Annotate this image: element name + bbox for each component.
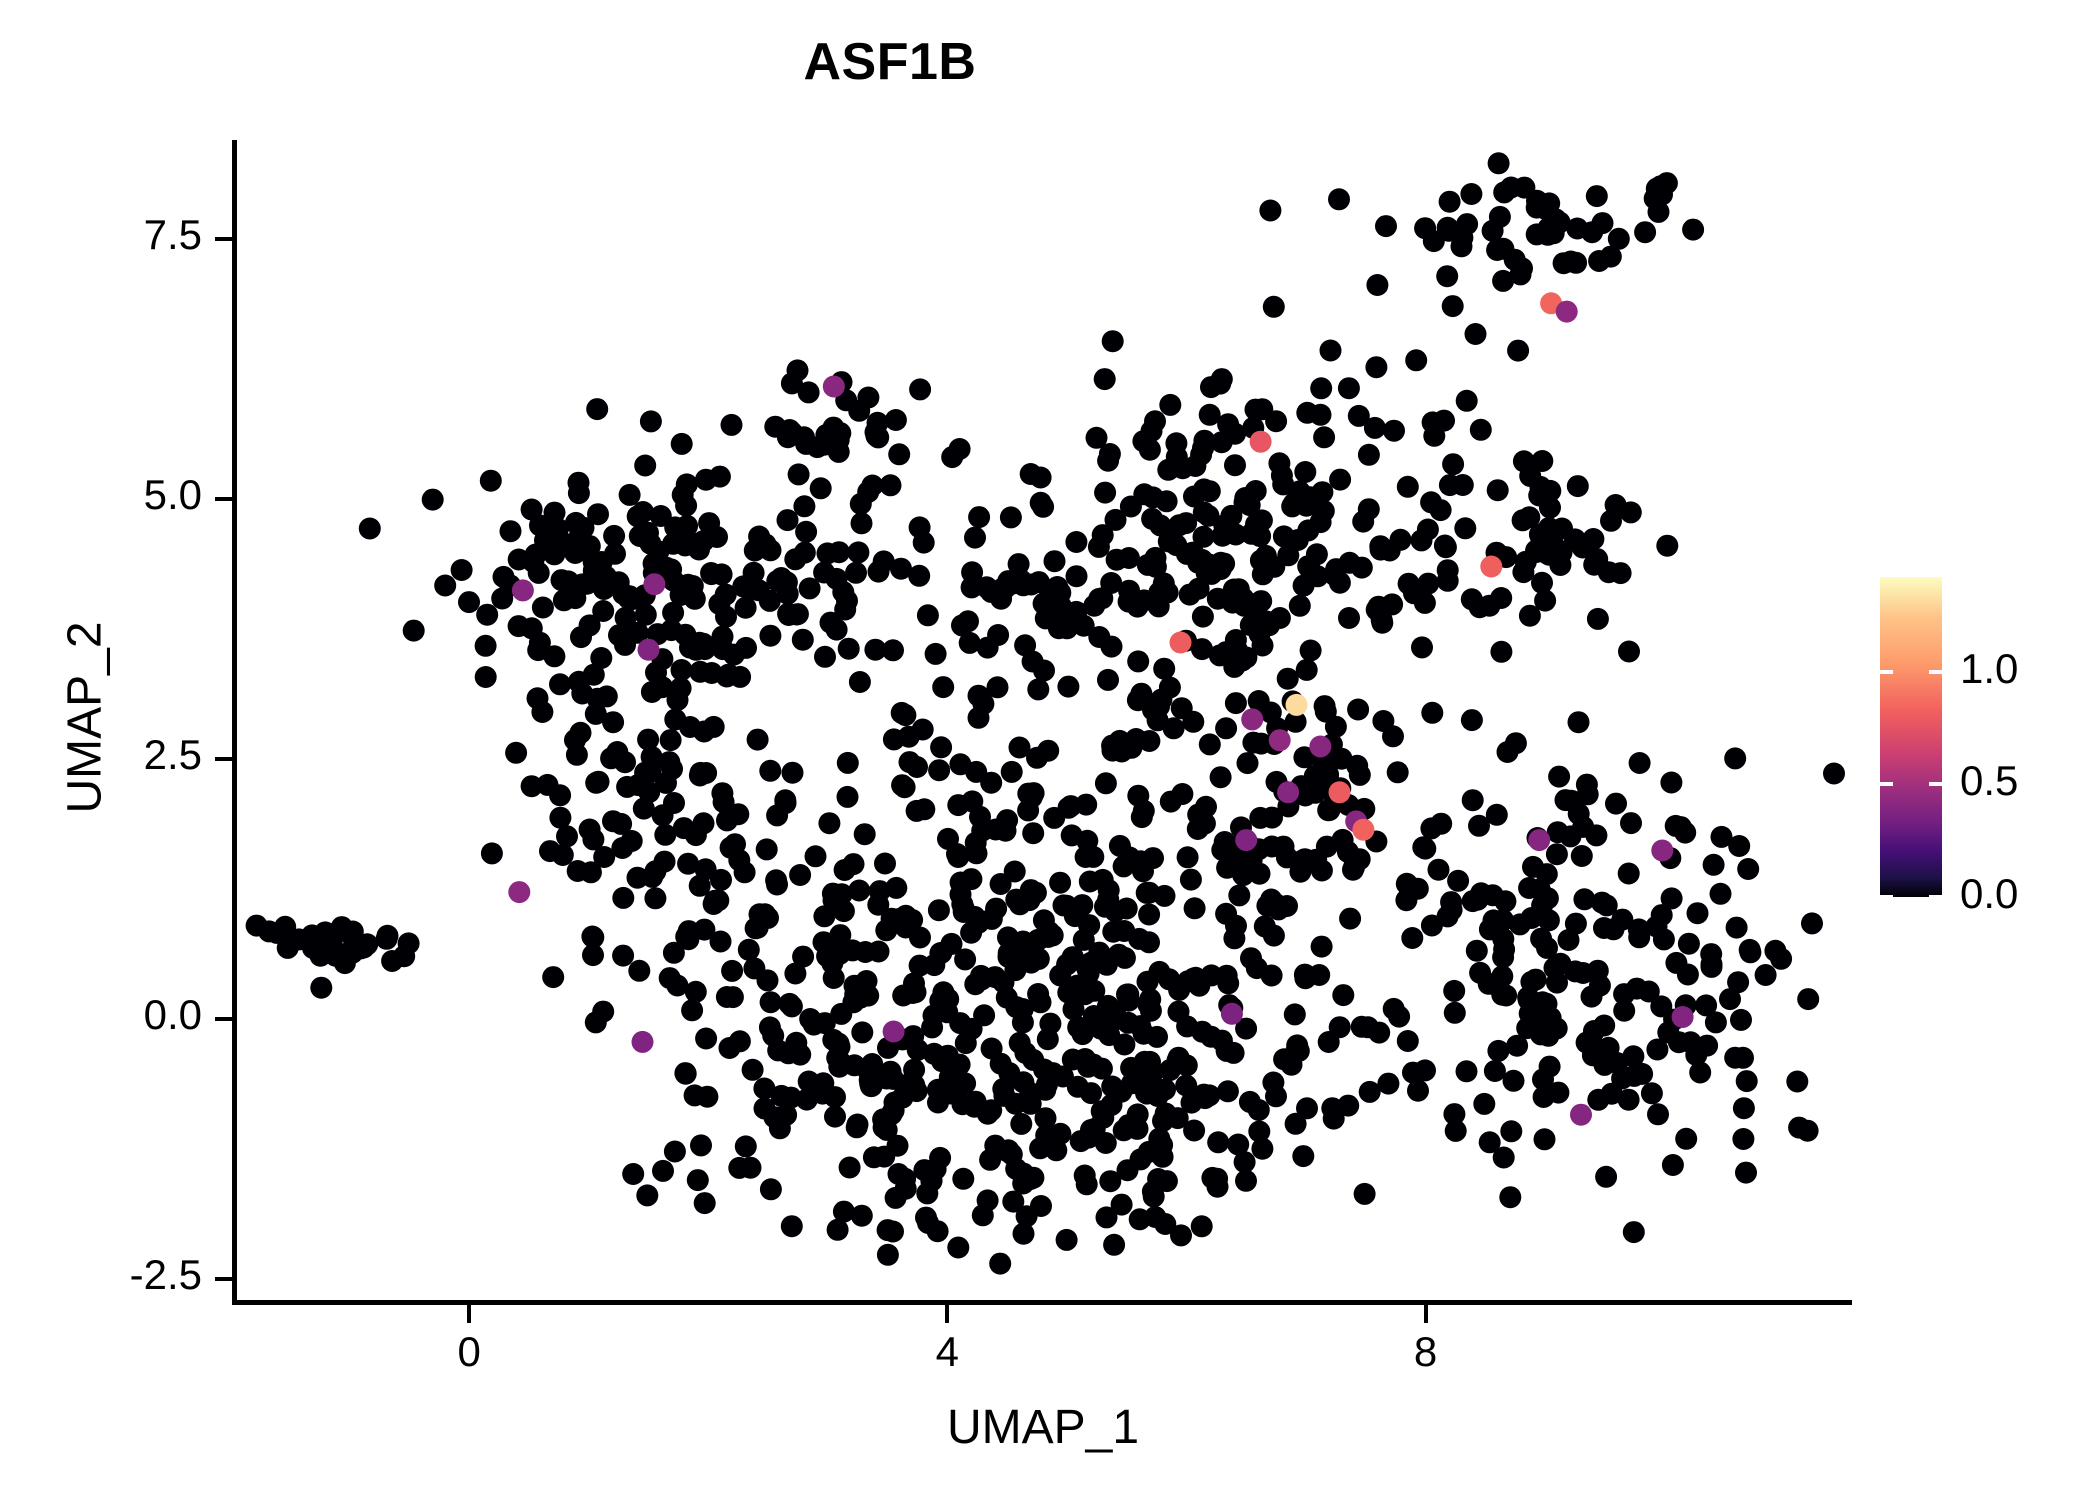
scatter-point-highlighted [823, 376, 845, 398]
scatter-point [1518, 506, 1540, 528]
scatter-point [833, 900, 855, 922]
scatter-point [1038, 921, 1060, 943]
scatter-point [612, 945, 634, 967]
scatter-point [957, 610, 979, 632]
scatter-point [716, 809, 738, 831]
scatter-point [1199, 480, 1221, 502]
scatter-point [1483, 909, 1505, 931]
scatter-point [1588, 250, 1610, 272]
scatter-point-highlighted [643, 573, 665, 595]
scatter-point [1258, 614, 1280, 636]
scatter-point [1329, 469, 1351, 491]
scatter-point [909, 378, 931, 400]
scatter-point [1375, 215, 1397, 237]
scatter-point [1461, 709, 1483, 731]
scatter-point [820, 612, 842, 634]
scatter-point [785, 1032, 807, 1054]
scatter-point [912, 719, 934, 741]
scatter-point [1546, 843, 1568, 865]
scatter-point [1488, 152, 1510, 174]
scatter-point [703, 893, 725, 915]
scatter-point-highlighted [1277, 781, 1299, 803]
scatter-point [1296, 659, 1318, 681]
scatter-point [527, 687, 549, 709]
scatter-point [711, 782, 733, 804]
scatter-point [334, 952, 356, 974]
scatter-point-highlighted [1556, 301, 1578, 323]
scatter-point [1101, 1011, 1123, 1033]
scatter-point [1352, 511, 1374, 533]
scatter-point [582, 828, 604, 850]
scatter-point [1037, 740, 1059, 762]
scatter-point [1254, 915, 1276, 937]
scatter-point [1210, 766, 1232, 788]
scatter-point [891, 774, 913, 796]
scatter-point [1348, 405, 1370, 427]
scatter-point [1405, 349, 1427, 371]
scatter-point [803, 1014, 825, 1036]
colorbar-gradient [1880, 577, 1942, 897]
scatter-point [1273, 525, 1295, 547]
scatter-point [1096, 1206, 1118, 1228]
scatter-point [1428, 859, 1450, 881]
scatter-point [754, 1097, 776, 1119]
scatter-point [1328, 188, 1350, 210]
scatter-point [422, 489, 444, 511]
scatter-point [616, 776, 638, 798]
scatter-point [1447, 870, 1469, 892]
scatter-point-highlighted [512, 579, 534, 601]
scatter-point [1225, 692, 1247, 714]
scatter-point [614, 634, 636, 656]
scatter-point [917, 604, 939, 626]
scatter-point [552, 844, 574, 866]
scatter-point [586, 398, 608, 420]
y-axis-tick-label: 2.5 [144, 731, 202, 779]
scatter-point [549, 807, 571, 829]
scatter-point [521, 775, 543, 797]
scatter-point [849, 671, 871, 693]
scatter-point [1223, 1042, 1245, 1064]
scatter-point [403, 620, 425, 642]
scatter-point [1101, 735, 1123, 757]
scatter-point [1492, 238, 1514, 260]
scatter-point [1088, 536, 1110, 558]
scatter-point [1019, 889, 1041, 911]
scatter-point [1511, 257, 1533, 279]
scatter-point [1414, 592, 1436, 614]
scatter-point [1346, 755, 1368, 777]
scatter-point [585, 703, 607, 725]
scatter-point [1414, 838, 1436, 860]
scatter-point [721, 960, 743, 982]
scatter-point [688, 539, 710, 561]
scatter-point [1411, 529, 1433, 551]
scatter-point [681, 999, 703, 1021]
scatter-point [1083, 980, 1105, 1002]
scatter-point [1797, 988, 1819, 1010]
scatter-point [543, 543, 565, 565]
scatter-point [700, 563, 722, 585]
scatter-point [1118, 990, 1140, 1012]
scatter-point [1665, 952, 1687, 974]
scatter-point [658, 751, 680, 773]
scatter-point [897, 1073, 919, 1095]
scatter-point-highlighted [1651, 840, 1673, 862]
scatter-point [929, 1147, 951, 1169]
scatter-point [654, 824, 676, 846]
scatter-point [1660, 772, 1682, 794]
scatter-point [954, 1072, 976, 1094]
scatter-point [1631, 1063, 1653, 1085]
scatter-point [774, 789, 796, 811]
scatter-point [1127, 650, 1149, 672]
scatter-point [1192, 606, 1214, 628]
scatter-point [1252, 635, 1274, 657]
scatter-point [1168, 1001, 1190, 1023]
scatter-point [1675, 1128, 1697, 1150]
scatter-point [1593, 917, 1615, 939]
scatter-point-highlighted [1250, 431, 1272, 453]
scatter-point [663, 792, 685, 814]
scatter-point [1180, 869, 1202, 891]
scatter-point [894, 704, 916, 726]
y-axis-tick-label: 7.5 [144, 211, 202, 259]
scatter-point [980, 1099, 1002, 1121]
scatter-point [844, 975, 866, 997]
scatter-point [664, 1141, 686, 1163]
scatter-point [1526, 541, 1548, 563]
scatter-point [1057, 676, 1079, 698]
scatter-point [1358, 444, 1380, 466]
scatter-point [1674, 822, 1696, 844]
scatter-point [1526, 223, 1548, 245]
scatter-point [359, 518, 381, 540]
colorbar-tick-mark [1880, 895, 1893, 899]
scatter-point [1201, 1167, 1223, 1189]
scatter-points-layer [236, 140, 1850, 1302]
scatter-point [1650, 175, 1672, 197]
scatter-point [1533, 1086, 1555, 1108]
scatter-point [1273, 836, 1295, 858]
scatter-point [1460, 183, 1482, 205]
scatter-point [1342, 859, 1364, 881]
scatter-point [1074, 1165, 1096, 1187]
scatter-point [792, 629, 814, 651]
scatter-point [1237, 752, 1259, 774]
scatter-point [1033, 660, 1055, 682]
scatter-point [709, 466, 731, 488]
scatter-point [1737, 858, 1759, 880]
scatter-point [1268, 452, 1290, 474]
scatter-point [1096, 954, 1118, 976]
scatter-point [636, 1184, 658, 1206]
scatter-point [1553, 252, 1575, 274]
x-axis-tick-label: 8 [1366, 1328, 1486, 1376]
scatter-point [951, 893, 973, 915]
scatter-point [1487, 1040, 1509, 1062]
scatter-point [1249, 807, 1271, 829]
scatter-point [708, 593, 730, 615]
y-axis-tick [215, 497, 233, 501]
scatter-point [1407, 878, 1429, 900]
scatter-point [1249, 525, 1271, 547]
scatter-point [643, 553, 665, 575]
scatter-point [549, 784, 571, 806]
scatter-point [1568, 711, 1590, 733]
scatter-point [258, 920, 280, 942]
scatter-point [1141, 508, 1163, 530]
scatter-point [622, 1163, 644, 1185]
scatter-point [1171, 783, 1193, 805]
scatter-point [848, 880, 870, 902]
scatter-point [1056, 1229, 1078, 1251]
scatter-point [1512, 561, 1534, 583]
scatter-point [792, 946, 814, 968]
scatter-point [1600, 510, 1622, 532]
scatter-point [777, 603, 799, 625]
scatter-point [810, 477, 832, 499]
scatter-point [738, 939, 760, 961]
scatter-point-highlighted [1352, 819, 1374, 841]
scatter-point [712, 626, 734, 648]
scatter-point [1770, 948, 1792, 970]
scatter-point [1199, 733, 1221, 755]
scatter-point [1456, 390, 1478, 412]
page-title: ASF1B [0, 32, 1780, 92]
scatter-point [1582, 1044, 1604, 1066]
scatter-point [1390, 529, 1412, 551]
scatter-point [1732, 1128, 1754, 1150]
scatter-point [818, 812, 840, 834]
scatter-point [759, 760, 781, 782]
scatter-point [1587, 1089, 1609, 1111]
scatter-point [1113, 1119, 1135, 1141]
scatter-point [1053, 894, 1075, 916]
scatter-point [1000, 506, 1022, 528]
scatter-point [1103, 1234, 1125, 1256]
scatter-point [1142, 847, 1164, 869]
scatter-point [1198, 505, 1220, 527]
scatter-point [1148, 961, 1170, 983]
scatter-point [721, 414, 743, 436]
scatter-point [877, 1244, 899, 1266]
scatter-point [1170, 1224, 1192, 1246]
scatter-point [685, 639, 707, 661]
scatter-point [1470, 419, 1492, 441]
scatter-point [961, 561, 983, 583]
scatter-point-highlighted [632, 1031, 654, 1053]
scatter-point [596, 571, 618, 593]
scatter-point [1620, 812, 1642, 834]
scatter-point [645, 662, 667, 684]
scatter-point [1217, 413, 1239, 435]
scatter-point [1359, 1081, 1381, 1103]
scatter-point [980, 581, 1002, 603]
scatter-point [1225, 524, 1247, 546]
scatter-point-highlighted [1329, 781, 1351, 803]
scatter-point [1383, 420, 1405, 442]
scatter-point [1628, 918, 1650, 940]
x-axis-tick [1424, 1305, 1428, 1323]
scatter-point-highlighted [508, 881, 530, 903]
scatter-point [1101, 1076, 1123, 1098]
scatter-point [928, 899, 950, 921]
scatter-point [734, 861, 756, 883]
scatter-point [799, 577, 821, 599]
scatter-point [1136, 882, 1158, 904]
scatter-point [864, 639, 886, 661]
scatter-point [1095, 772, 1117, 794]
scatter-point [1148, 1128, 1170, 1150]
scatter-point [1494, 890, 1516, 912]
scatter-point [1088, 588, 1110, 610]
scatter-point [822, 1029, 844, 1051]
scatter-point [1036, 1074, 1058, 1096]
scatter-point [909, 955, 931, 977]
scatter-point [846, 1116, 868, 1138]
scatter-point [1662, 1154, 1684, 1176]
umap-feature-plot: ASF1B -2.50.02.55.07.5048 UMAP_1 UMAP_2 … [0, 0, 2100, 1500]
scatter-point [854, 941, 876, 963]
scatter-point [1417, 573, 1439, 595]
scatter-point [1585, 824, 1607, 846]
scatter-point [1332, 984, 1354, 1006]
scatter-point [985, 819, 1007, 841]
scatter-point [779, 993, 801, 1015]
scatter-point [1113, 1034, 1135, 1056]
scatter-point-highlighted [1269, 729, 1291, 751]
scatter-point [564, 542, 586, 564]
scatter-point [1022, 1167, 1044, 1189]
scatter-point [1131, 806, 1153, 828]
scatter-point [1099, 1170, 1121, 1192]
scatter-point [729, 1030, 751, 1052]
scatter-point [1308, 964, 1330, 986]
scatter-point [716, 986, 738, 1008]
scatter-point [1289, 595, 1311, 617]
scatter-point [1060, 795, 1082, 817]
scatter-point [1823, 763, 1845, 785]
scatter-point [1057, 982, 1079, 1004]
scatter-point [720, 837, 742, 859]
scatter-point [1153, 658, 1175, 680]
scatter-point [760, 991, 782, 1013]
scatter-point [1193, 526, 1215, 548]
scatter-point [813, 434, 835, 456]
scatter-point [529, 632, 551, 654]
scatter-point [451, 559, 473, 581]
x-axis-tick [467, 1305, 471, 1323]
scatter-point [475, 635, 497, 657]
scatter-point [764, 416, 786, 438]
scatter-point [1499, 1186, 1521, 1208]
scatter-point [857, 481, 879, 503]
scatter-point-highlighted [1241, 708, 1263, 730]
scatter-point [760, 1178, 782, 1200]
scatter-point [1265, 410, 1287, 432]
scatter-point [1387, 761, 1409, 783]
scatter-point [1044, 550, 1066, 572]
scatter-point [682, 575, 704, 597]
scatter-point [1454, 517, 1476, 539]
scatter-point [868, 561, 890, 583]
scatter-point [1439, 191, 1461, 213]
scatter-point [671, 659, 693, 681]
scatter-point [1435, 536, 1457, 558]
scatter-point [1082, 846, 1104, 868]
scatter-point [756, 838, 778, 860]
scatter-point [865, 425, 887, 447]
scatter-point [1492, 928, 1514, 950]
scatter-point [1191, 1215, 1213, 1237]
scatter-point [789, 864, 811, 886]
scatter-point [1490, 587, 1512, 609]
scatter-point [1369, 535, 1391, 557]
scatter-point [592, 1001, 614, 1023]
scatter-point [1726, 917, 1748, 939]
scatter-point [690, 762, 712, 784]
scatter-point [1653, 928, 1675, 950]
scatter-point [1311, 936, 1333, 958]
scatter-point [1320, 340, 1342, 362]
scatter-point [1159, 1059, 1181, 1081]
scatter-point [583, 664, 605, 686]
scatter-point [947, 846, 969, 868]
colorbar-tick-label: 0.0 [1960, 870, 2018, 918]
scatter-point [1755, 964, 1777, 986]
scatter-point [694, 1192, 716, 1214]
scatter-point [793, 495, 815, 517]
scatter-point [1078, 914, 1100, 936]
scatter-point [1587, 960, 1609, 982]
scatter-point [1067, 1016, 1089, 1038]
scatter-point [838, 638, 860, 660]
scatter-point [1318, 1031, 1340, 1053]
scatter-point [1004, 861, 1026, 883]
scatter-point [1623, 1221, 1645, 1243]
scatter-point [701, 662, 723, 684]
scatter-point [847, 541, 869, 563]
scatter-point [1500, 177, 1522, 199]
scatter-point [1687, 902, 1709, 924]
scatter-point [458, 591, 480, 613]
scatter-point [965, 761, 987, 783]
x-axis-tick [945, 1305, 949, 1323]
scatter-point [1252, 563, 1274, 585]
scatter-point [528, 562, 550, 584]
scatter-point [1587, 608, 1609, 630]
scatter-point [1544, 957, 1566, 979]
scatter-point [753, 1078, 775, 1100]
scatter-point [1437, 559, 1459, 581]
colorbar-tick-mark [1880, 670, 1893, 674]
scatter-point [1445, 1120, 1467, 1142]
scatter-point [972, 1204, 994, 1226]
scatter-point [1294, 848, 1316, 870]
scatter-point [1136, 1067, 1158, 1089]
scatter-point [1008, 553, 1030, 575]
scatter-point [1733, 1097, 1755, 1119]
scatter-point [1250, 590, 1272, 612]
scatter-point [854, 823, 876, 845]
scatter-point [1682, 219, 1704, 241]
scatter-point [1736, 1070, 1758, 1092]
colorbar-tick-mark [1880, 782, 1893, 786]
y-axis-tick-label: 0.0 [144, 991, 202, 1039]
scatter-point [1209, 373, 1231, 395]
scatter-point [1605, 793, 1627, 815]
